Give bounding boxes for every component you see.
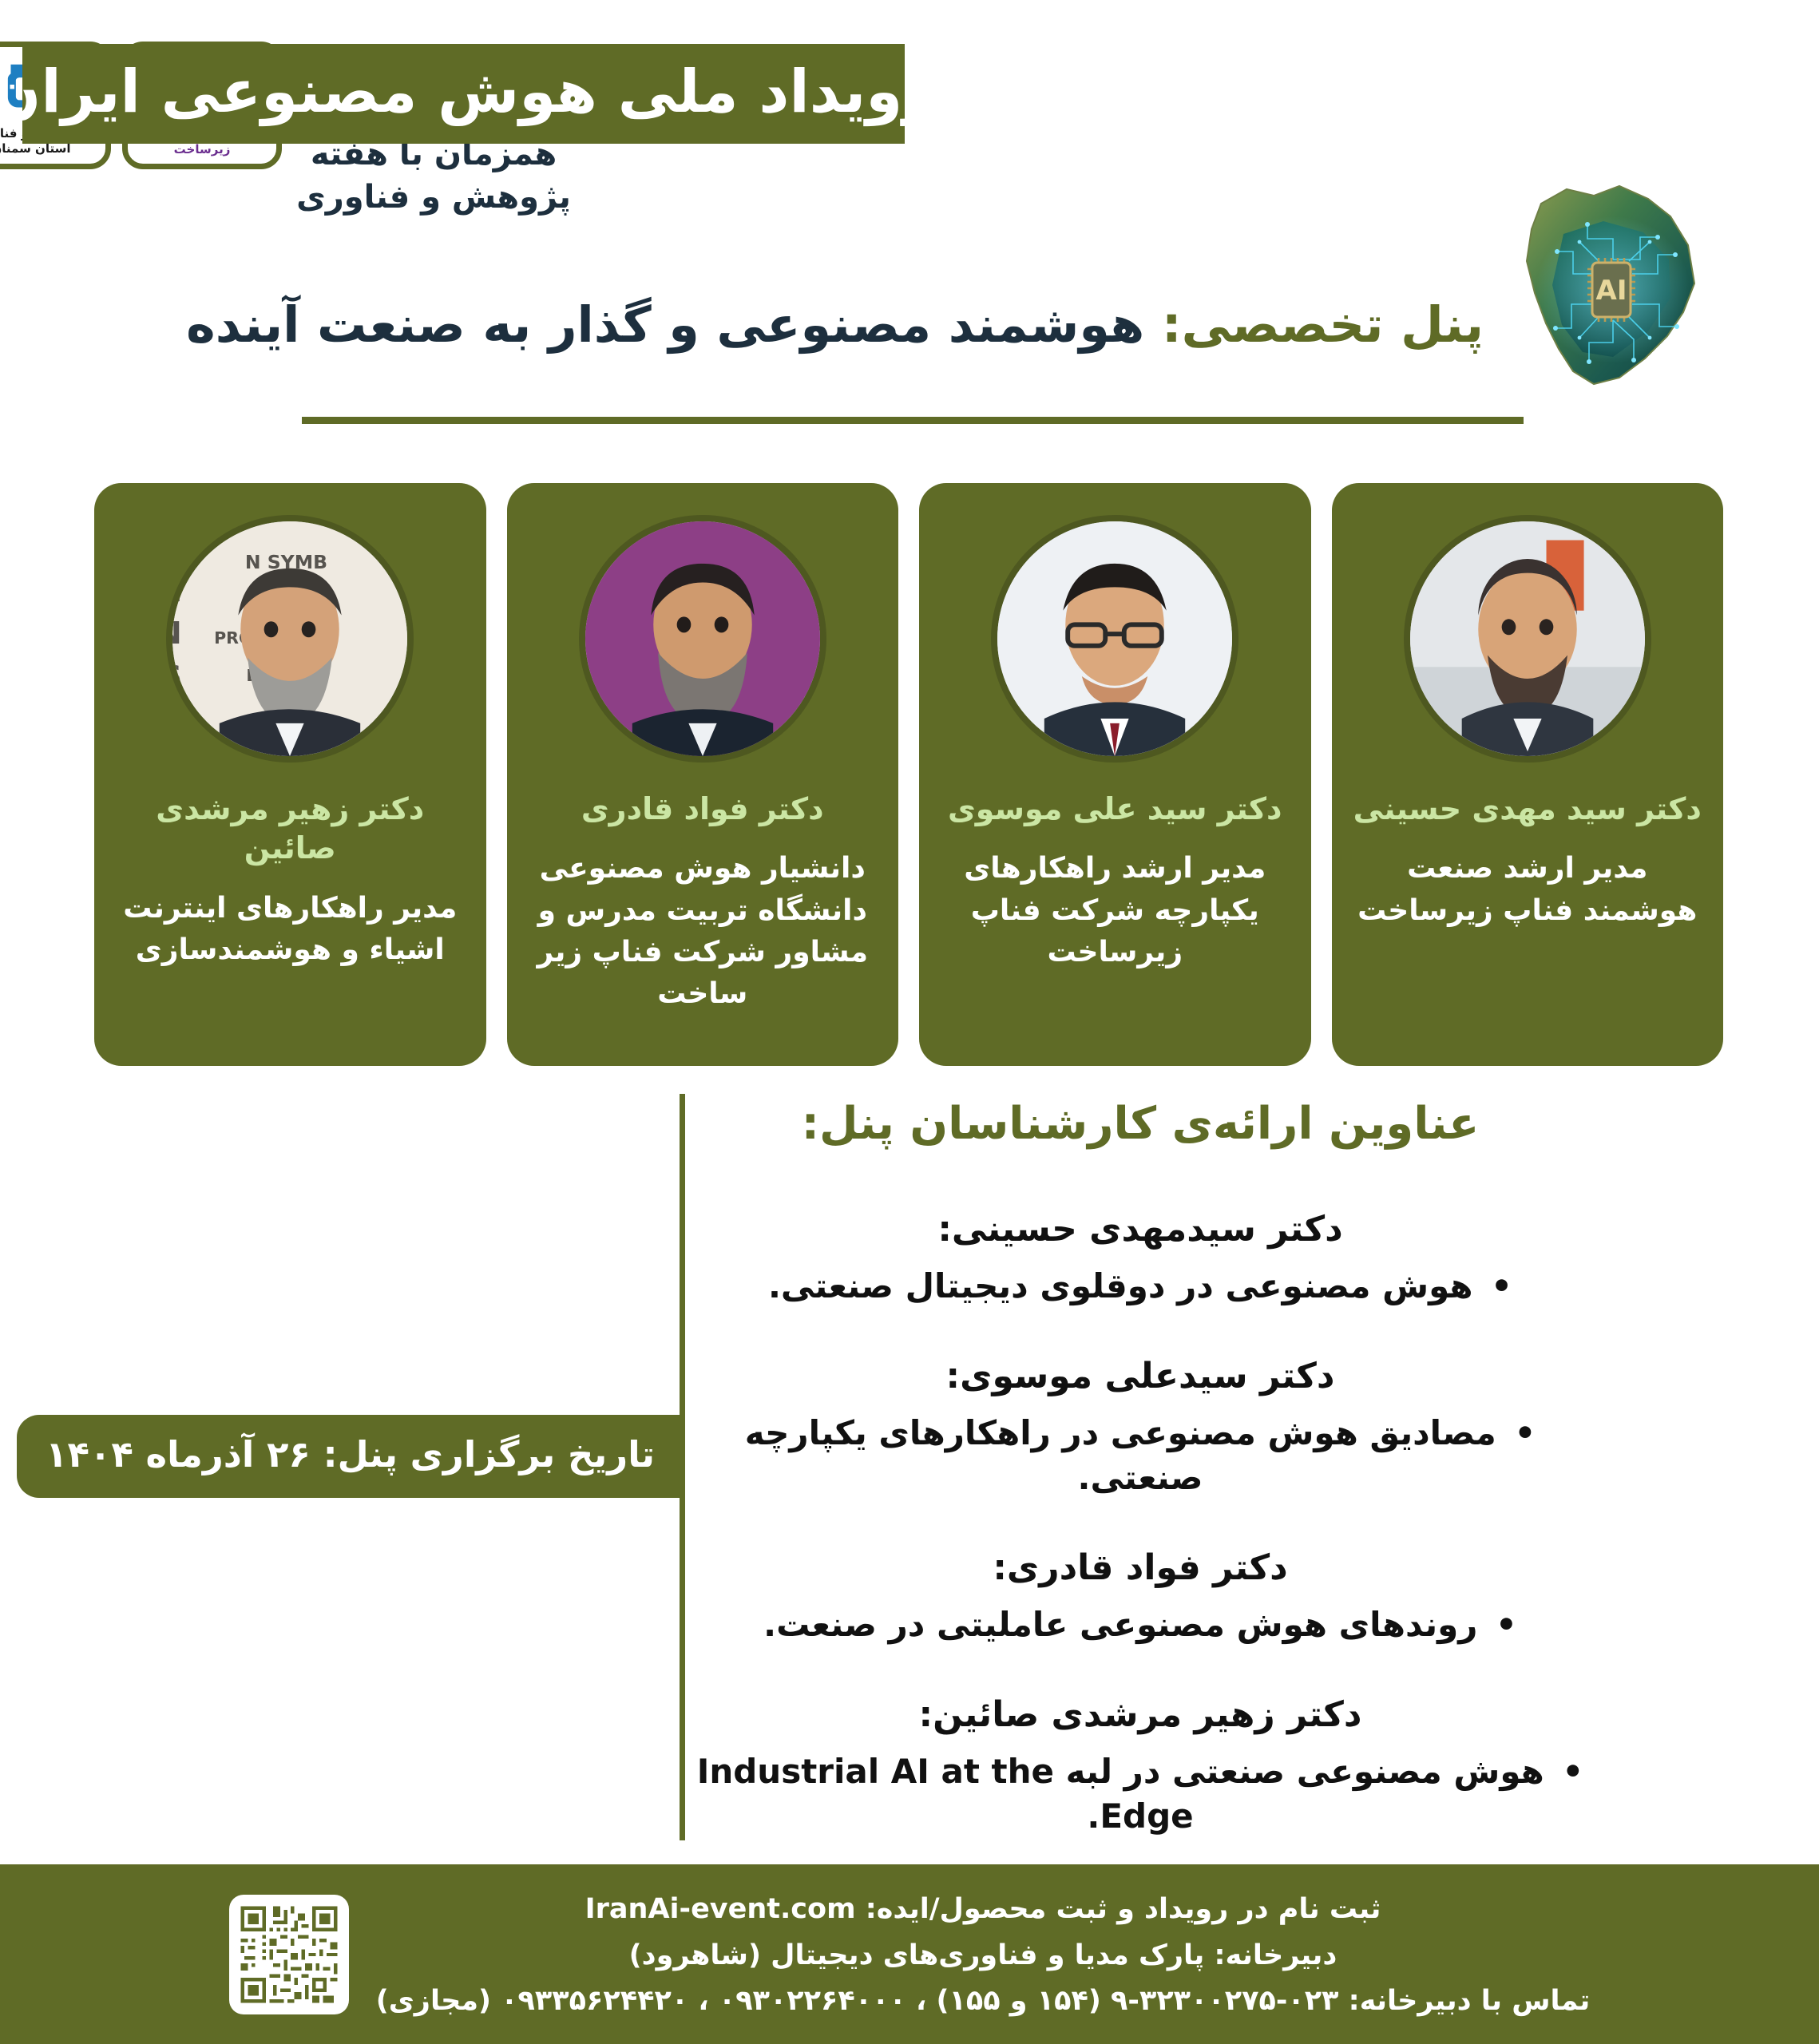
poster-root: فناپ زیرساخت پارک علم [0,0,1819,2044]
panel-date-badge: تاریخ برگزاری پنل: ۲۶ آذرماه ۱۴۰۴ [17,1415,684,1498]
panel-title: پنل تخصصی: هوشمند مصنوعی و گذار به صنعت … [286,295,1484,354]
agenda-topic: هوش مصنوعی در دوقلوی دیجیتال صنعتی. [768,1266,1473,1305]
panel-date-text: تاریخ برگزاری پنل: ۲۶ آذرماه ۱۴۰۴ [46,1433,655,1476]
svg-text:AGEMENT: AGEMENT [172,545,187,569]
agenda-speaker: دکتر سیدعلی موسوی: [685,1356,1595,1396]
agenda-item: دکتر زهیر مرشدی صائین: • هوش مصنوعی صنعت… [685,1694,1595,1840]
footer-registration-line[interactable]: ثبت نام در رویداد و ثبت محصول/ایده: Iran… [585,1891,1381,1928]
speaker-name: دکتر سید مهدی حسینی [1353,790,1702,829]
title-divider [302,417,1524,424]
footer-bar: ثبت نام در رویداد و ثبت محصول/ایده: Iran… [0,1864,1819,2044]
panel-title-prefix: پنل تخصصی: [1162,295,1484,354]
speaker-card: دکتر سید علی موسوی مدیر ارشد راهکارهای ی… [919,483,1311,1066]
bullet-icon: • [1491,1266,1512,1305]
agenda-topic-row: • هوش مصنوعی صنعتی در لبه Industrial AI … [685,1749,1595,1840]
agenda-item: دکتر فواد قادری: • روندهای هوش مصنوعی عا… [685,1547,1595,1648]
avatar [991,515,1238,763]
event-title-banner: رویداد ملی هوش مصنوعی ایران [22,44,905,144]
agenda-item: دکتر سیدعلی موسوی: • مصادیق هوش مصنوعی د… [685,1356,1595,1501]
speaker-cards: دکتر سید مهدی حسینی مدیر ارشد صنعت هوشمن… [94,483,1723,1066]
bullet-icon: • [1496,1605,1517,1644]
speaker-card: AGEMENT N SYMB VEM EN SS RNMENT PRODUCTI… [94,483,486,1066]
agenda-section: عناوین ارائه‌ی کارشناسان پنل: دکتر سیدمه… [685,1098,1595,1886]
agenda-topic: روندهای هوش مصنوعی عاملیتی در صنعت. [763,1605,1477,1644]
logo-caption-fanap-bottom: زیرساخت [174,142,231,157]
iran-map-graphic: AI [1500,172,1715,403]
svg-text:VEM: VEM [172,577,182,608]
footer-secretariat-line: دبیرخانه: پارک مدیا و فناوری‌های دیجیتال… [629,1938,1337,1975]
agenda-speaker: دکتر سیدمهدی حسینی: [685,1209,1595,1250]
svg-text:SS: SS [172,660,182,693]
speaker-name: دکتر فواد قادری [581,790,824,829]
bullet-icon: • [1514,1413,1536,1452]
svg-text:EN: EN [172,616,182,652]
speaker-name: دکتر سید علی موسوی [948,790,1282,829]
footer-contact-line: تماس با دبیرخانه: ۰۲۳-۳۲۳۰۰۲۷۵-۹ (۱۵۴ و … [376,1983,1591,2020]
header-bar: فناپ زیرساخت پارک علم [0,0,1819,200]
qr-code[interactable] [229,1895,349,2014]
speaker-role: مدیر راهکارهای اینترنت اشیاء و هوشمندساز… [115,888,466,971]
agenda-speaker: دکتر فواد قادری: [685,1547,1595,1588]
speaker-name: دکتر زهیر مرشدی صائین [115,790,466,869]
footer-text-block: ثبت نام در رویداد و ثبت محصول/ایده: Iran… [376,1888,1591,2020]
event-title: رویداد ملی هوش مصنوعی ایران [0,57,937,126]
avatar [1404,515,1651,763]
avatar [579,515,826,763]
agenda-item: دکتر سیدمهدی حسینی: • هوش مصنوعی در دوقل… [685,1209,1595,1309]
agenda-topic: هوش مصنوعی صنعتی در لبه Industrial AI at… [697,1752,1544,1836]
agenda-topic-row: • روندهای هوش مصنوعی عاملیتی در صنعت. [685,1602,1595,1648]
speaker-role: مدیر ارشد راهکارهای یکپارچه شرکت فناپ زی… [940,848,1290,973]
ai-chip-icon: AI [1587,258,1635,322]
agenda-topic: مصادیق هوش مصنوعی در راهکارهای یکپارچه ص… [745,1413,1496,1498]
agenda-topic-row: • مصادیق هوش مصنوعی در راهکارهای یکپارچه… [685,1411,1595,1501]
speaker-role: دانشیار هوش مصنوعی دانشگاه تربیت مدرس و … [528,848,878,1015]
panel-title-rest: هوشمند مصنوعی و گذار به صنعت آینده [186,295,1144,354]
header-date-line2: همزمان با هفته پژوهش و فناوری [282,133,585,219]
agenda-topic-row: • هوش مصنوعی در دوقلوی دیجیتال صنعتی. [685,1264,1595,1309]
speaker-card: دکتر فواد قادری دانشیار هوش مصنوعی دانشگ… [507,483,899,1066]
agenda-heading: عناوین ارائه‌ی کارشناسان پنل: [685,1098,1595,1150]
ai-chip-label: AI [1596,275,1627,307]
agenda-speaker: دکتر زهیر مرشدی صائین: [685,1694,1595,1735]
bullet-icon: • [1562,1752,1583,1791]
avatar: AGEMENT N SYMB VEM EN SS RNMENT PRODUCTI… [166,515,414,763]
speaker-role: مدیر ارشد صنعت هوشمند فناپ زیرساخت [1353,848,1703,931]
speaker-card: دکتر سید مهدی حسینی مدیر ارشد صنعت هوشمن… [1332,483,1724,1066]
